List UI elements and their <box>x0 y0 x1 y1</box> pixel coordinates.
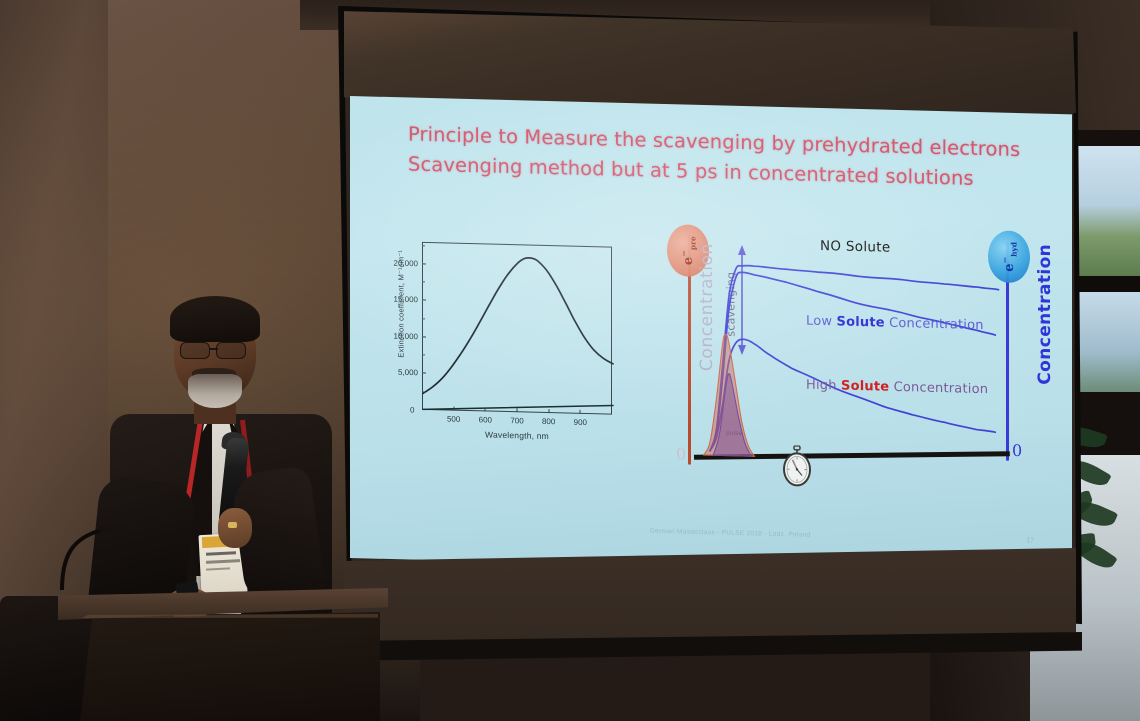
podium-body <box>80 612 380 721</box>
pulse-label: pulse <box>726 430 742 437</box>
chart-left-x-tick-mark <box>580 410 581 414</box>
kinetics-series-path <box>710 338 995 458</box>
chart-scavenging-kinetics: e−pre e−hyd Concentration Concentration … <box>650 228 1050 506</box>
chart-left-x-tick-label: 600 <box>479 415 492 424</box>
chart-left-y-tick-label: 5,000 <box>378 368 418 378</box>
chart-left-y-tick-label: 20,000 <box>378 258 418 268</box>
chart-left-x-tick-mark <box>517 408 518 412</box>
projection-screen-assembly: Principle to Measure the scavenging by p… <box>336 0 1096 690</box>
stopwatch-icon <box>780 445 814 490</box>
spectrum-series-path <box>423 255 613 398</box>
podium <box>58 588 388 721</box>
chart-left-y-minor-tick <box>422 355 425 356</box>
chart-absorption-spectrum: Extinction coefficient, M⁻¹cm⁻¹ 0 5,0001… <box>374 237 624 458</box>
chart-left-origin-label: 0 <box>410 406 414 415</box>
presenter-hand-right <box>218 508 252 548</box>
kinetics-series-path <box>710 272 995 459</box>
chart-left-y-minor-tick <box>422 282 425 283</box>
presenter-eyeglass-right <box>216 342 246 359</box>
chart-left-x-tick-mark <box>548 409 549 413</box>
screen-upper-dark-band <box>344 8 1076 113</box>
chart-left-y-tick-label: 15,000 <box>378 295 418 305</box>
chart-left-x-tick-label: 500 <box>447 414 460 423</box>
chart-left-y-minor-tick <box>422 373 425 374</box>
chart-left-y-minor-tick <box>422 245 425 246</box>
chart-left-y-minor-tick <box>422 263 425 264</box>
presenter-eyeglass-bridge <box>209 348 218 350</box>
projected-slide: Principle to Measure the scavenging by p… <box>350 96 1072 576</box>
legend-no-solute: NO Solute <box>820 238 890 256</box>
chart-left-x-tick-mark <box>485 407 486 411</box>
presenter-hair <box>170 296 260 342</box>
chart-left-y-minor-tick <box>422 391 425 392</box>
chart-left-y-minor-tick <box>422 336 425 337</box>
chart-left-tick-group: 5,00010,00015,00020,000500600700800900 <box>374 237 624 243</box>
chart-left-x-tick-mark <box>453 407 454 411</box>
slide-title: Principle to Measure the scavenging by p… <box>408 119 1028 195</box>
chart-left-y-minor-tick <box>422 300 425 301</box>
presenter-beard <box>188 374 242 408</box>
chart-left-x-axis-label: Wavelength, nm <box>422 428 612 443</box>
spectrum-series-path <box>423 401 613 415</box>
chart-left-plot-area <box>422 242 612 415</box>
presenter-ring <box>228 522 237 528</box>
chart-left-y-minor-tick <box>422 318 425 319</box>
kinetics-series-path <box>710 265 999 459</box>
chart-left-x-tick-label: 900 <box>574 418 587 427</box>
conference-room-scene: Principle to Measure the scavenging by p… <box>0 0 1140 721</box>
slide-number: 17 <box>1026 537 1034 544</box>
chart-left-y-tick-label: 10,000 <box>378 331 418 341</box>
slide-footer-text: German Masterclass - PULSE 2018 - Lodz, … <box>530 525 930 542</box>
presenter-eyeglass-left <box>180 342 210 359</box>
spectrum-curve <box>423 243 613 416</box>
gooseneck-microphone-stand <box>56 516 136 594</box>
chart-left-x-tick-label: 800 <box>542 417 555 426</box>
chart-left-x-tick-label: 700 <box>510 416 523 425</box>
kinetics-traces <box>650 228 1050 506</box>
